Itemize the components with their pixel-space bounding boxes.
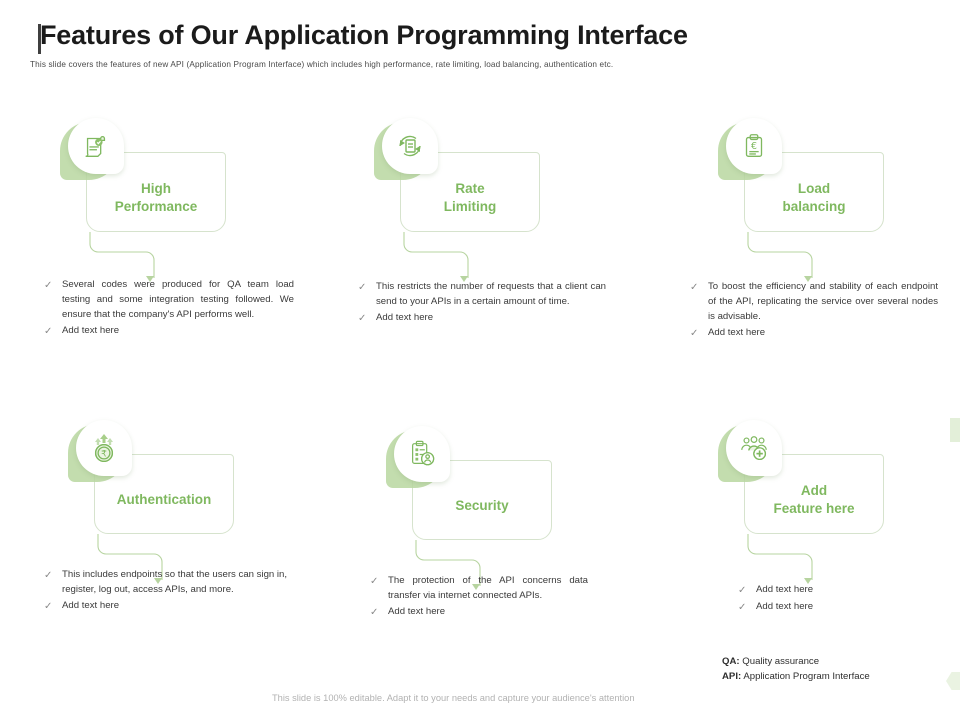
check-icon: ✓: [44, 599, 62, 615]
list-item: ✓ Add text here: [44, 599, 294, 615]
card-title-line1: Load: [782, 180, 845, 198]
check-icon: ✓: [44, 568, 62, 584]
bullets-authentication: ✓ This includes endpoints so that the us…: [44, 568, 294, 615]
list-item: ✓ Several codes were produced for QA tea…: [44, 278, 294, 323]
card-title-line1: Security: [455, 497, 508, 515]
list-item: ✓ Add text here: [738, 583, 948, 599]
legend-abbr: API:: [722, 671, 741, 682]
list-item: ✓ Add text here: [358, 311, 606, 327]
icon-disc: [68, 118, 124, 174]
legend-row-api: API: Application Program Interface: [722, 670, 870, 685]
list-item: ✓ This includes endpoints so that the us…: [44, 568, 294, 598]
list-item: ✓ Add text here: [690, 326, 938, 342]
bullets-security: ✓ The protection of the API concerns dat…: [370, 574, 588, 621]
slide-canvas: Features of Our Application Programming …: [0, 0, 960, 720]
icon-disc: [382, 118, 438, 174]
clipboard-user-icon: [384, 426, 454, 496]
check-icon: ✓: [690, 326, 708, 342]
connector-arrow: [746, 532, 826, 590]
check-icon: ✓: [690, 280, 708, 296]
right-edge-chevron: [946, 672, 960, 690]
check-icon: ✓: [370, 605, 388, 621]
page-title: Features of Our Application Programming …: [40, 20, 688, 51]
svg-text:₹: ₹: [101, 450, 107, 460]
card-title-line1: Rate: [444, 180, 497, 198]
card-title-line2: Feature here: [773, 500, 854, 518]
list-item: ✓ Add text here: [44, 324, 294, 340]
refresh-document-icon: [372, 118, 442, 188]
card-title-line1: Authentication: [117, 491, 212, 509]
group-add-user-icon: [716, 420, 786, 490]
check-icon: ✓: [738, 600, 756, 616]
legend-meaning: Application Program Interface: [743, 671, 869, 682]
icon-disc: €: [726, 118, 782, 174]
rupee-coin-growth-icon: ₹: [66, 420, 136, 490]
check-icon: ✓: [738, 583, 756, 599]
card-title-line2: Performance: [115, 198, 198, 216]
legend-meaning: Quality assurance: [742, 656, 819, 667]
clipboard-euro-icon: €: [716, 118, 786, 188]
abbreviation-legend: QA: Quality assurance API: Application P…: [722, 655, 870, 685]
bullets-high-performance: ✓ Several codes were produced for QA tea…: [44, 278, 294, 340]
legend-abbr: QA:: [722, 656, 740, 667]
check-icon: ✓: [44, 278, 62, 294]
bullets-add-feature-here: ✓ Add text here ✓ Add text here: [738, 583, 948, 616]
check-icon: ✓: [370, 574, 388, 590]
icon-disc: [726, 420, 782, 476]
right-edge-accent: [950, 418, 960, 442]
svg-text:€: €: [751, 141, 757, 152]
page-subtitle: This slide covers the features of new AP…: [30, 60, 613, 69]
icon-disc: [394, 426, 450, 482]
list-item: ✓ To boost the efficiency and stability …: [690, 280, 938, 325]
check-icon: ✓: [358, 280, 376, 296]
footer-note: This slide is 100% editable. Adapt it to…: [272, 693, 635, 703]
bullets-load-balancing: ✓ To boost the efficiency and stability …: [690, 280, 938, 342]
card-title-line2: Limiting: [444, 198, 497, 216]
bullets-rate-limiting: ✓ This restricts the number of requests …: [358, 280, 606, 327]
card-title-line2: balancing: [782, 198, 845, 216]
list-item: ✓ This restricts the number of requests …: [358, 280, 606, 310]
list-item: ✓ Add text here: [370, 605, 588, 621]
check-icon: ✓: [44, 324, 62, 340]
certificate-shield-icon: [58, 118, 128, 188]
icon-disc: ₹: [76, 420, 132, 476]
list-item: ✓ Add text here: [738, 600, 948, 616]
check-icon: ✓: [358, 311, 376, 327]
list-item: ✓ The protection of the API concerns dat…: [370, 574, 588, 604]
legend-row-qa: QA: Quality assurance: [722, 655, 870, 670]
